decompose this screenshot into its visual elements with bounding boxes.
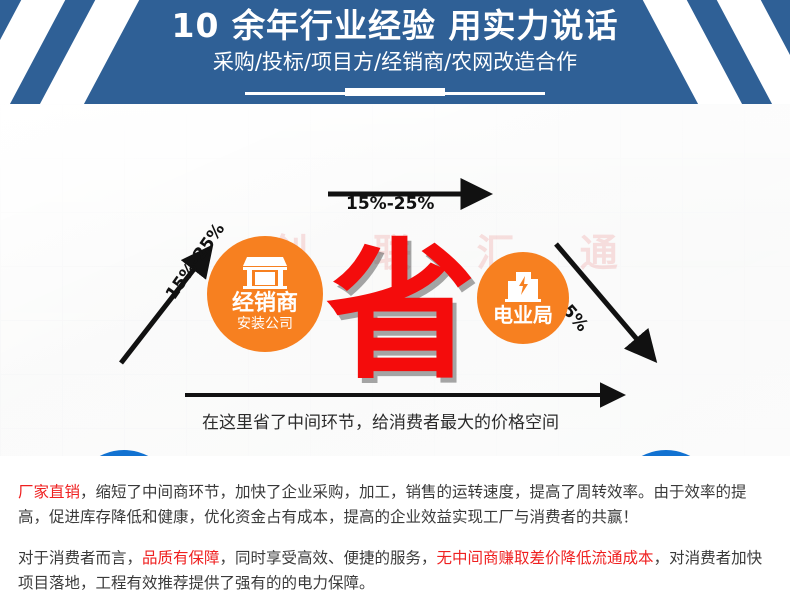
paragraph-two-part-c: ，同时享受高效、便捷的服务， xyxy=(220,549,437,567)
paragraph-two-highlight-1: 品质有保障 xyxy=(142,549,220,567)
paragraph-two-part-a: 对于消费者而言， xyxy=(18,549,142,567)
paragraph-one-highlight: 厂家直销 xyxy=(18,483,80,501)
arrow-label-factory-to-consumer: 在这里省了中间环节，给消费者最大的价格空间 xyxy=(202,408,559,433)
paragraph-two: 对于消费者而言，品质有保障，同时享受高效、便捷的服务，无中间商赚取差价降低流通成… xyxy=(18,546,772,596)
shop-icon xyxy=(243,255,287,289)
center-save-character: 省 xyxy=(326,238,476,388)
diagram-stage: 创 联 汇 通 15%-25% 15%-25% 15%-25% 在这里省了中间环… xyxy=(0,104,790,456)
paragraph-one: 厂家直销，缩短了中间商环节，加快了企业采购，加工，销售的运转速度，提高了周转效率… xyxy=(18,480,772,530)
node-dealer[interactable]: 经销商 安装公司 xyxy=(207,236,323,352)
header-banner: 10 余年行业经验 用实力说话 采购/投标/项目方/经销商/农网改造合作 xyxy=(0,0,790,104)
banner-text-block: 10 余年行业经验 用实力说话 采购/投标/项目方/经销商/农网改造合作 xyxy=(0,0,790,76)
power-building-icon xyxy=(503,271,543,303)
banner-divider-accent xyxy=(345,88,445,96)
paragraph-two-highlight-2: 无中间商赚取差价降低流通成本 xyxy=(437,549,654,567)
bottom-description-block: 厂家直销，缩短了中间商环节，加快了企业采购，加工，销售的运转速度，提高了周转效率… xyxy=(0,456,790,602)
arrow-label-dealer-to-power: 15%-25% xyxy=(346,194,434,214)
node-dealer-label: 经销商 xyxy=(232,292,298,315)
node-power-bureau[interactable]: 电业局 xyxy=(477,252,569,344)
node-dealer-sublabel: 安装公司 xyxy=(237,317,293,332)
banner-subtitle: 采购/投标/项目方/经销商/农网改造合作 xyxy=(0,48,790,76)
banner-title: 10 余年行业经验 用实力说话 xyxy=(0,6,790,46)
paragraph-one-body: ，缩短了中间商环节，加快了企业采购，加工，销售的运转速度，提高了周转效率。由于效… xyxy=(18,483,747,526)
promo-infographic-page: 10 余年行业经验 用实力说话 采购/投标/项目方/经销商/农网改造合作 创 联… xyxy=(0,0,790,602)
node-power-bureau-label: 电业局 xyxy=(493,305,553,326)
